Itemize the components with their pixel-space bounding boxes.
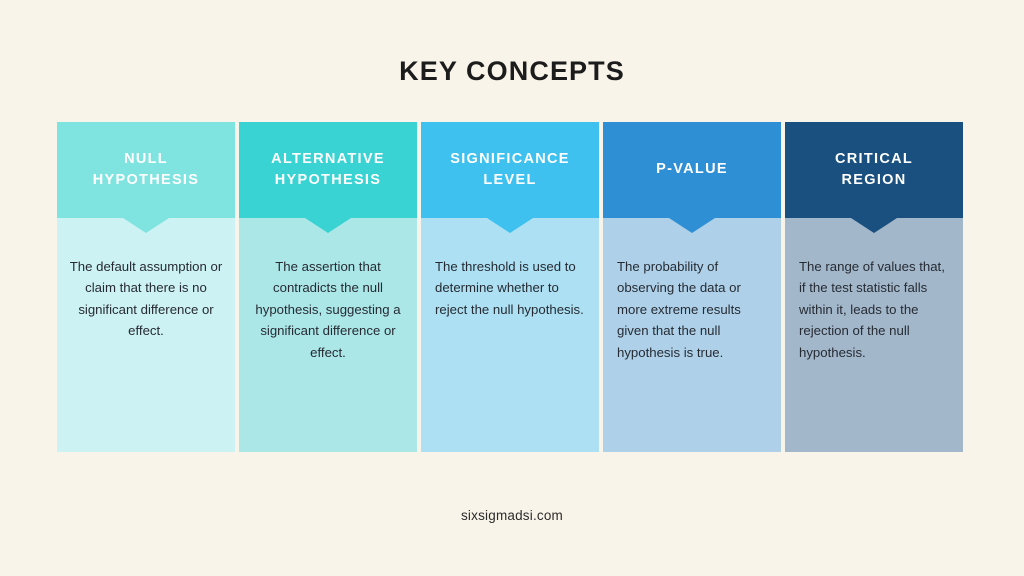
chevron-down-icon (123, 218, 169, 233)
concept-column: SIGNIFICANCE LEVELThe threshold is used … (421, 122, 599, 452)
concept-body: The default assumption or claim that the… (57, 218, 235, 452)
concept-column: P-VALUEThe probability of observing the … (603, 122, 781, 452)
concept-column: CRITICAL REGIONThe range of values that,… (785, 122, 963, 452)
chevron-down-icon (851, 218, 897, 233)
concept-body-text: The default assumption or claim that the… (69, 256, 223, 342)
page-title: KEY CONCEPTS (0, 56, 1024, 87)
concept-header-label: ALTERNATIVE HYPOTHESIS (271, 149, 385, 191)
concept-column: ALTERNATIVE HYPOTHESISThe assertion that… (239, 122, 417, 452)
concept-header: ALTERNATIVE HYPOTHESIS (239, 122, 417, 218)
concept-header-label: SIGNIFICANCE LEVEL (450, 149, 570, 191)
footer-website-link[interactable]: sixsigmadsi.com (0, 508, 1024, 523)
concept-body-text: The threshold is used to determine wheth… (435, 256, 585, 320)
concept-column: NULL HYPOTHESISThe default assumption or… (57, 122, 235, 452)
concept-header-label: CRITICAL REGION (835, 149, 913, 191)
concept-header: NULL HYPOTHESIS (57, 122, 235, 218)
chevron-down-icon (487, 218, 533, 233)
concept-header: P-VALUE (603, 122, 781, 218)
concept-body-text: The probability of observing the data or… (617, 256, 767, 363)
concept-body-text: The range of values that, if the test st… (799, 256, 949, 363)
concept-body: The range of values that, if the test st… (785, 218, 963, 452)
concept-columns-container: NULL HYPOTHESISThe default assumption or… (57, 122, 967, 452)
concept-header-label: NULL HYPOTHESIS (93, 149, 199, 191)
concept-body: The threshold is used to determine wheth… (421, 218, 599, 452)
concept-body: The probability of observing the data or… (603, 218, 781, 452)
concept-body: The assertion that contradicts the null … (239, 218, 417, 452)
concept-header: SIGNIFICANCE LEVEL (421, 122, 599, 218)
chevron-down-icon (669, 218, 715, 233)
concept-header: CRITICAL REGION (785, 122, 963, 218)
chevron-down-icon (305, 218, 351, 233)
concept-body-text: The assertion that contradicts the null … (251, 256, 405, 363)
concept-header-label: P-VALUE (656, 159, 728, 180)
